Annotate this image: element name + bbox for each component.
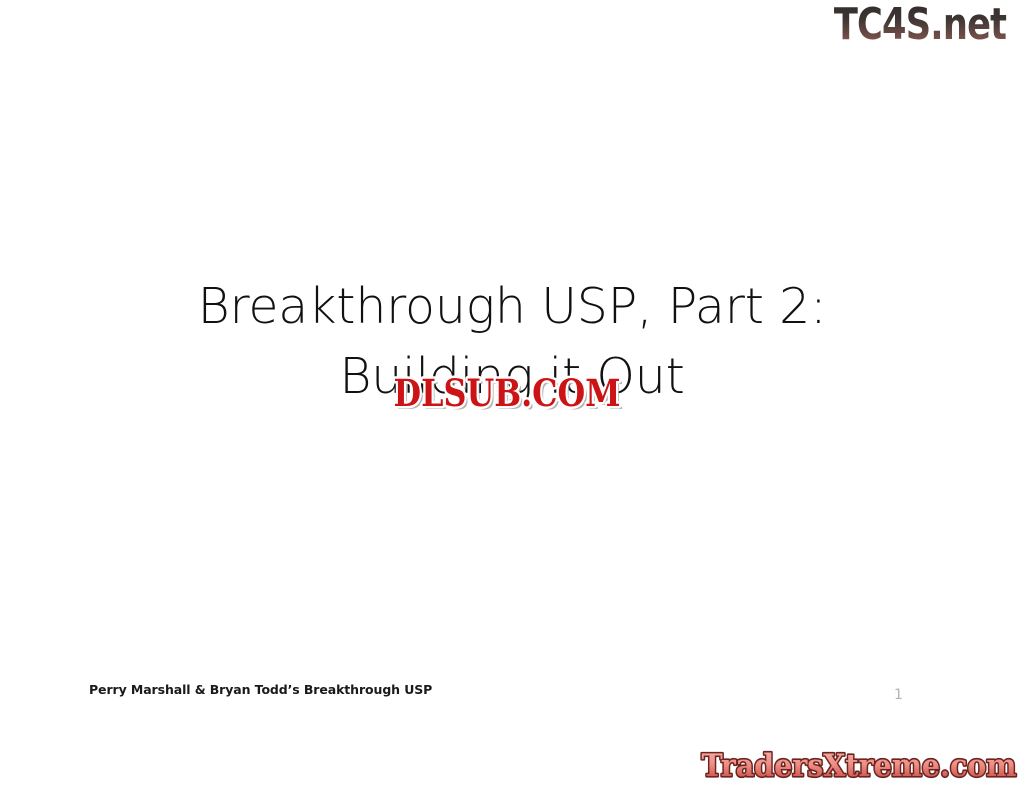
page-title: Breakthrough USP, Part 2: Building it Ou… bbox=[0, 272, 1024, 412]
title-line-2: Building it Out bbox=[0, 342, 1024, 412]
title-line-1: Breakthrough USP, Part 2: bbox=[0, 272, 1024, 342]
tradersxtreme-watermark-glow: TradersXtreme.com bbox=[702, 748, 1017, 784]
tradersxtreme-watermark-outline: TradersXtreme.com bbox=[702, 748, 1017, 784]
tc4s-watermark-text: TC4S.net bbox=[834, 0, 1007, 50]
presentation-slide: TC4S.net Breakthrough USP, Part 2: Build… bbox=[0, 0, 1024, 791]
tradersxtreme-watermark-text: TradersXtreme.com bbox=[702, 748, 1017, 784]
tradersxtreme-watermark: TradersXtreme.com TradersXtreme.com Trad… bbox=[694, 740, 1024, 791]
footer-credit: Perry Marshall & Bryan Todd’s Breakthrou… bbox=[89, 682, 432, 697]
tc4s-watermark: TC4S.net bbox=[820, 0, 1020, 52]
page-number: 1 bbox=[894, 687, 903, 703]
